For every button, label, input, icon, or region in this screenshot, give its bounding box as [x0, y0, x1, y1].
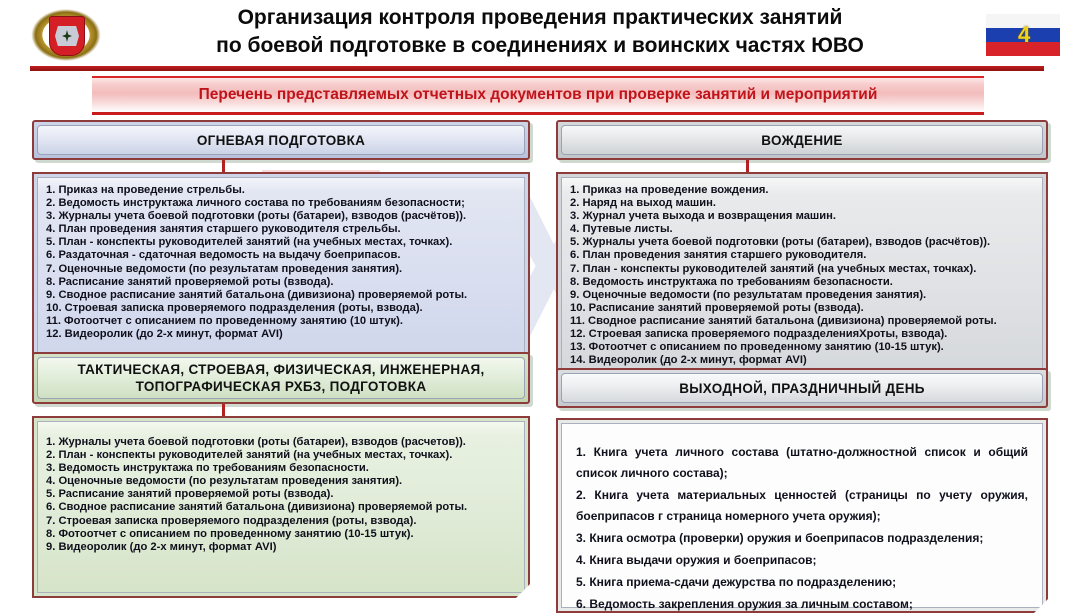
- list-item: 6. Раздаточная - сдаточная ведомость на …: [46, 249, 516, 262]
- shield-shape: [49, 16, 85, 56]
- list-item: 5. Книга приема-сдачи дежурства по подра…: [576, 572, 1028, 593]
- list-item: 12. Строевая записка проверяемого подраз…: [570, 328, 1034, 341]
- list-item: 3. Журнал учета выхода и возвращения маш…: [570, 210, 1034, 223]
- list-item: 10. Расписание занятий проверяемой роты …: [570, 302, 1034, 315]
- list-item: 3. Книга осмотра (проверки) оружия и бое…: [576, 528, 1028, 549]
- panel-tactical: ТАКТИЧЕСКАЯ, СТРОЕВАЯ, ФИЗИЧЕСКАЯ, ИНЖЕН…: [32, 352, 530, 598]
- panel-holiday-title: ВЫХОДНОЙ, ПРАЗДНИЧНЫЙ ДЕНЬ: [673, 376, 931, 401]
- list-item: 4. Путевые листы.: [570, 223, 1034, 236]
- title-line-1: Организация контроля проведения практиче…: [120, 4, 960, 32]
- list-item: 2. Ведомость инструктажа личного состава…: [46, 197, 516, 210]
- list-item: 7. План - конспекты руководителей заняти…: [570, 263, 1034, 276]
- panel-fire-training-header: ОГНЕВАЯ ПОДГОТОВКА: [32, 120, 530, 160]
- panel-fire-training-title: ОГНЕВАЯ ПОДГОТОВКА: [191, 128, 371, 153]
- list-item: 6. План проведения занятия старшего руко…: [570, 249, 1034, 262]
- list-item: 14. Видеоролик (до 2-х минут, формат AVI…: [570, 354, 1034, 367]
- cross-icon: [62, 30, 72, 42]
- panel-driving-title: ВОЖДЕНИЕ: [755, 128, 848, 153]
- list-item: 9. Видеоролик (до 2-х минут, формат AVI): [46, 541, 516, 554]
- list-item: 11. Сводное расписание занятий батальона…: [570, 315, 1034, 328]
- panel-holiday: ВЫХОДНОЙ, ПРАЗДНИЧНЫЙ ДЕНЬ 1. Книга учет…: [556, 368, 1048, 613]
- list-item: 7. Оценочные ведомости (по результатам п…: [46, 263, 516, 276]
- flag-number: 4: [1018, 22, 1030, 48]
- panel-fire-training-list: 1. Приказ на проведение стрельбы. 2. Вед…: [46, 184, 516, 341]
- list-item: 11. Фотоотчет с описанием по проведенном…: [46, 315, 516, 328]
- page-title: Организация контроля проведения практиче…: [120, 4, 960, 60]
- list-item: 13. Фотоотчет с описанием по проведенном…: [570, 341, 1034, 354]
- list-item: 12. Видеоролик (до 2-х минут, формат AVI…: [46, 328, 516, 341]
- list-item: 6. Ведомость закрепления оружия за личны…: [576, 594, 1028, 615]
- list-item: 8. Расписание занятий проверяемой роты (…: [46, 276, 516, 289]
- panel-tactical-header: ТАКТИЧЕСКАЯ, СТРОЕВАЯ, ФИЗИЧЕСКАЯ, ИНЖЕН…: [32, 352, 530, 404]
- list-item: 2. План - конспекты руководителей заняти…: [46, 449, 516, 462]
- panel-tactical-title: ТАКТИЧЕСКАЯ, СТРОЕВАЯ, ФИЗИЧЕСКАЯ, ИНЖЕН…: [38, 357, 524, 399]
- list-item: 4. Книга выдачи оружия и боеприпасов;: [576, 550, 1028, 571]
- list-item: 1. Журналы учета боевой подготовки (роты…: [46, 436, 516, 449]
- panel-fire-training: ОГНЕВАЯ ПОДГОТОВКА 1. Приказ на проведен…: [32, 120, 530, 368]
- panel-fire-training-connector: [222, 160, 225, 172]
- list-item: 1. Приказ на проведение стрельбы.: [46, 184, 516, 197]
- list-item: 3. Журналы учета боевой подготовки (роты…: [46, 210, 516, 223]
- panel-tactical-list: 1. Журналы учета боевой подготовки (роты…: [46, 436, 516, 553]
- list-item: 5. Журналы учета боевой подготовки (роты…: [570, 236, 1034, 249]
- panel-driving-header: ВОЖДЕНИЕ: [556, 120, 1048, 160]
- panel-holiday-list: 1. Книга учета личного состава (штатно-д…: [576, 442, 1028, 615]
- subtitle-banner-text: Перечень представляемых отчетных докумен…: [199, 86, 878, 104]
- list-item: 6. Сводное расписание занятий батальона …: [46, 501, 516, 514]
- panel-tactical-body: 1. Журналы учета боевой подготовки (роты…: [32, 416, 530, 598]
- list-item: 2. Книга учета материальных ценностей (с…: [576, 485, 1028, 527]
- list-item: 10. Строевая записка проверяемого подраз…: [46, 302, 516, 315]
- list-item: 1. Приказ на проведение вождения.: [570, 184, 1034, 197]
- panel-holiday-header: ВЫХОДНОЙ, ПРАЗДНИЧНЫЙ ДЕНЬ: [556, 368, 1048, 408]
- panel-fire-training-body: 1. Приказ на проведение стрельбы. 2. Вед…: [32, 172, 530, 368]
- panel-driving-body: 1. Приказ на проведение вождения. 2. Нар…: [556, 172, 1048, 390]
- panel-holiday-body: 1. Книга учета личного состава (штатно-д…: [556, 418, 1048, 613]
- russian-mod-emblem-icon: [30, 8, 102, 62]
- list-item: 4. План проведения занятия старшего руко…: [46, 223, 516, 236]
- list-item: 8. Фотоотчет с описанием по проведенному…: [46, 528, 516, 541]
- panel-driving-list: 1. Приказ на проведение вождения. 2. Нар…: [570, 184, 1034, 367]
- header-divider: [30, 66, 1044, 71]
- list-item: 5. План - конспекты руководителей заняти…: [46, 236, 516, 249]
- page-header: Организация контроля проведения практиче…: [0, 0, 1074, 70]
- list-item: 2. Наряд на выход машин.: [570, 197, 1034, 210]
- panel-driving-connector: [746, 160, 749, 172]
- list-item: 1. Книга учета личного состава (штатно-д…: [576, 442, 1028, 484]
- cross-plate-shape: [55, 26, 79, 46]
- list-item: 3. Ведомость инструктажа по требованиям …: [46, 462, 516, 475]
- list-item: 9. Оценочные ведомости (по результатам п…: [570, 289, 1034, 302]
- list-item: 4. Оценочные ведомости (по результатам п…: [46, 475, 516, 488]
- list-item: 9. Сводное расписание занятий батальона …: [46, 289, 516, 302]
- subtitle-banner: Перечень представляемых отчетных докумен…: [92, 76, 984, 115]
- list-item: 8. Ведомость инструктажа по требованиям …: [570, 276, 1034, 289]
- list-item: 7. Строевая записка проверяемого подразд…: [46, 515, 516, 528]
- title-line-2: по боевой подготовке в соединениях и вои…: [120, 32, 960, 60]
- panel-tactical-connector: [222, 404, 225, 416]
- list-item: 5. Расписание занятий проверяемой роты (…: [46, 488, 516, 501]
- panel-driving: ВОЖДЕНИЕ 1. Приказ на проведение вождени…: [556, 120, 1048, 390]
- russian-flag-icon: 4: [986, 14, 1060, 56]
